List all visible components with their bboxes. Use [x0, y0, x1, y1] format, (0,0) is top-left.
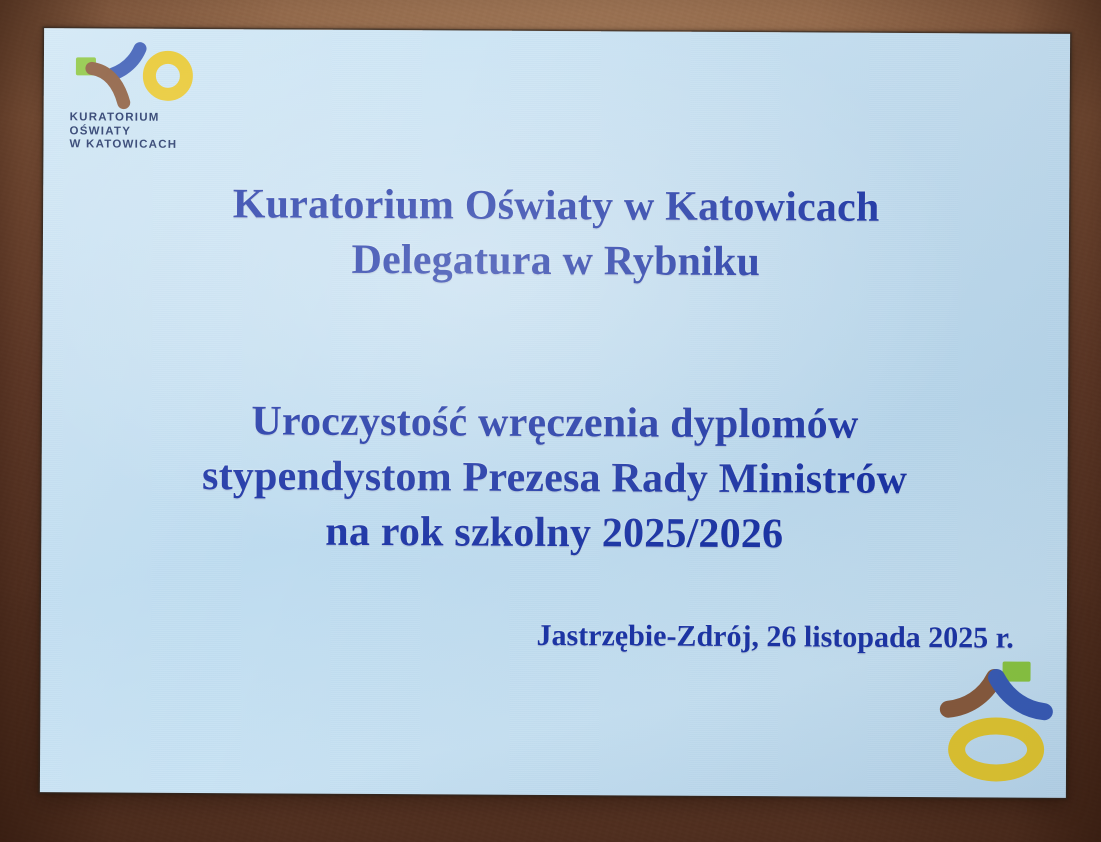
ko-logo-decoration-icon: [940, 655, 1053, 782]
slide-title-line-2: Delegatura w Rybniku: [43, 231, 1069, 292]
ko-logo-icon: [70, 44, 190, 107]
brand-caption-line-1: KURATORIUM: [70, 111, 300, 126]
brand-caption-line-2: OŚWIATY: [70, 125, 300, 140]
decoration-arcs-icon: [940, 669, 1052, 718]
slide-body-line-1: Uroczystość wręczenia dyplomów: [42, 393, 1068, 454]
decoration-yellow-ring-icon: [948, 717, 1044, 782]
projected-slide: KURATORIUM OŚWIATY W KATOWICACH Kuratori…: [40, 28, 1070, 798]
brand-caption: KURATORIUM OŚWIATY W KATOWICACH: [69, 111, 299, 153]
slide-body: Uroczystość wręczenia dyplomów stypendys…: [41, 393, 1068, 564]
slide-date-line: Jastrzębie-Zdrój, 26 listopada 2025 r.: [536, 617, 1013, 658]
logo-yellow-ring-icon: [143, 51, 193, 101]
brand-caption-line-3: W KATOWICACH: [69, 138, 299, 153]
slide-body-line-2: stypendystom Prezesa Rady Ministrów: [41, 448, 1067, 509]
brand-block: KURATORIUM OŚWIATY W KATOWICACH: [69, 44, 300, 153]
slide-title: Kuratorium Oświaty w Katowicach Delegatu…: [43, 176, 1070, 292]
slide-body-line-3: na rok szkolny 2025/2026: [41, 503, 1067, 564]
slide-title-line-1: Kuratorium Oświaty w Katowicach: [43, 176, 1069, 237]
